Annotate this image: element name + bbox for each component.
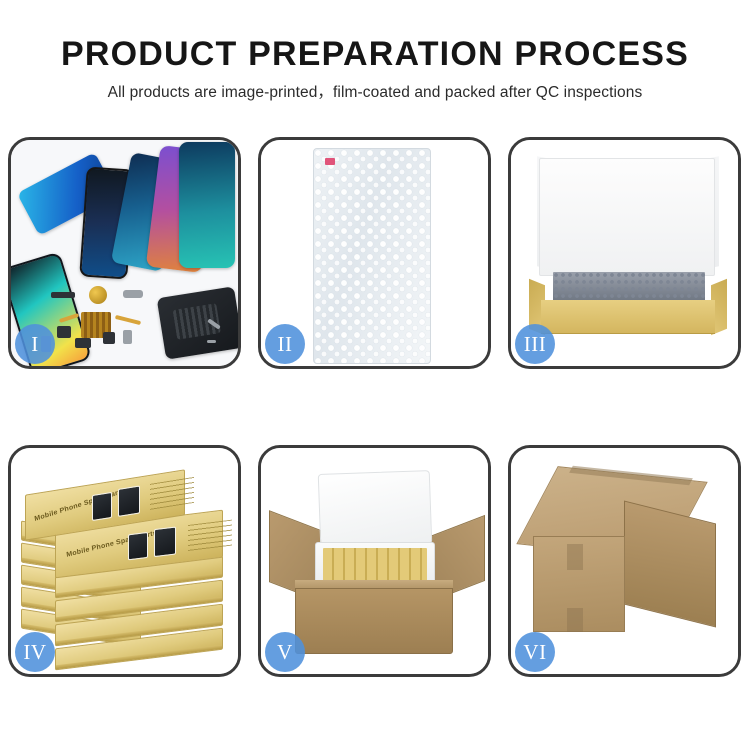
process-step-panel-1[interactable]: I <box>8 137 241 369</box>
bubble-wrap-bag <box>313 148 431 364</box>
flex-cable-part-b <box>115 315 141 325</box>
antenna-strip-part <box>51 292 75 298</box>
styrofoam-lid <box>318 470 433 548</box>
step-badge-1: I <box>15 324 55 364</box>
carton-right-face <box>624 501 716 628</box>
phone-backplate <box>157 286 238 359</box>
sim-tray-part <box>123 330 132 344</box>
metal-bracket-part <box>123 290 143 298</box>
box-screen-thumb-t1 <box>92 492 112 521</box>
vibrator-part <box>103 332 115 344</box>
carton-tape-lower <box>567 608 583 632</box>
process-step-panel-5[interactable]: V <box>258 445 491 677</box>
box-front-face <box>541 300 715 334</box>
product-preparation-page: PRODUCT PREPARATION PROCESS All products… <box>0 0 750 750</box>
process-step-grid: I II <box>8 137 742 677</box>
box-screen-thumb-a1 <box>128 532 148 560</box>
step-badge-2: II <box>265 324 305 364</box>
page-header: PRODUCT PREPARATION PROCESS All products… <box>0 0 750 103</box>
speaker-part <box>89 286 107 304</box>
box-spec-lines-a <box>188 520 232 551</box>
process-step-panel-4[interactable]: Mobile Phone Spare Parts Mobile Phone Sp… <box>8 445 241 677</box>
red-label-sticker <box>325 158 335 165</box>
phone-screen-teal <box>179 142 235 268</box>
box-lid-panel <box>539 158 715 276</box>
process-step-panel-2[interactable]: II <box>258 137 491 369</box>
carton-tape-upper <box>567 544 583 570</box>
process-step-panel-3[interactable]: III <box>508 137 741 369</box>
page-subtitle: All products are image-printed，film-coat… <box>0 83 750 103</box>
step-badge-3: III <box>515 324 555 364</box>
camera-module-part <box>57 326 71 338</box>
box-spec-lines-top <box>150 477 194 510</box>
grey-foam-padding <box>553 272 705 302</box>
screw-part <box>207 340 216 343</box>
step-badge-6: VI <box>515 632 555 672</box>
carton-front-face <box>295 588 453 654</box>
box-screen-thumb-t2 <box>118 485 140 516</box>
button-part <box>75 338 91 348</box>
step-badge-4: IV <box>15 632 55 672</box>
box-screen-thumb-a2 <box>154 526 176 557</box>
page-title: PRODUCT PREPARATION PROCESS <box>0 34 750 74</box>
process-step-panel-6[interactable]: VI <box>508 445 741 677</box>
step-badge-5: V <box>265 632 305 672</box>
